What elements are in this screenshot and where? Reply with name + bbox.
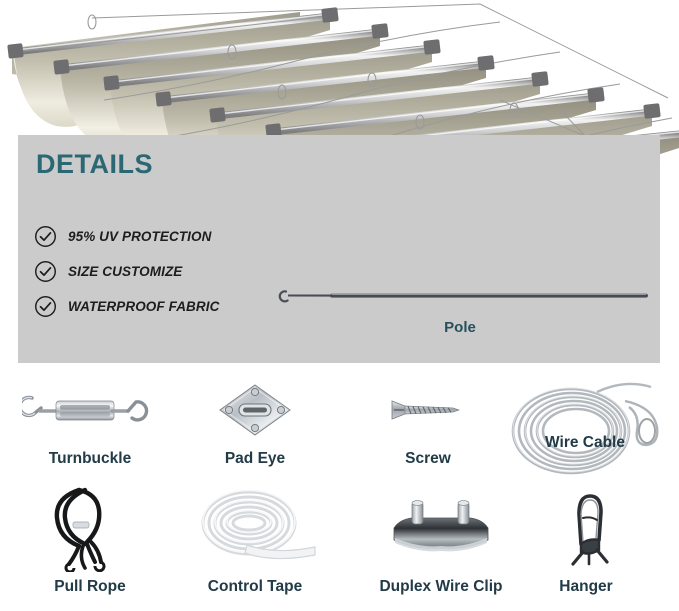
pole-figure: Pole (270, 283, 650, 339)
accessory-label: Wire Cable (500, 434, 670, 452)
feature-item-waterproof-fabric: WATERPROOF FABRIC (34, 291, 304, 321)
feature-label: 95% UV PROTECTION (68, 229, 211, 244)
pull-rope-icon (8, 484, 172, 572)
screw-icon (345, 372, 511, 448)
feature-item-size-customize: SIZE CUSTOMIZE (34, 256, 304, 286)
accessory-label: Turnbuckle (8, 450, 172, 468)
pole-icon (270, 283, 650, 309)
wire-cable-icon (500, 372, 670, 484)
accessory-item-pull-rope: Pull Rope (8, 484, 172, 611)
accessory-label: Hanger (520, 578, 652, 596)
pole-label: Pole (270, 319, 650, 336)
accessory-item-hanger: Hanger (520, 484, 652, 611)
feature-item-uv-protection: 95% UV PROTECTION (34, 221, 304, 251)
accessory-label: Duplex Wire Clip (345, 578, 537, 596)
accessory-item-control-tape: Control Tape (175, 484, 335, 611)
feature-list: 95% UV PROTECTION SIZE CUSTOMIZE (34, 221, 304, 326)
accessory-item-wire-cable: Wire Cable (500, 372, 670, 484)
duplex-wire-clip-icon (345, 484, 537, 572)
accessory-label: Screw (345, 450, 511, 468)
feature-label: SIZE CUSTOMIZE (68, 264, 182, 279)
accessory-label: Pad Eye (175, 450, 335, 468)
control-tape-icon (175, 484, 335, 572)
turnbuckle-icon (8, 372, 172, 448)
accessory-item-screw: Screw (345, 372, 511, 484)
accessory-item-duplex-wire-clip: Duplex Wire Clip (345, 484, 537, 611)
check-circle-icon (34, 225, 57, 248)
hanger-icon (520, 484, 652, 572)
accessory-item-turnbuckle: Turnbuckle (8, 372, 172, 484)
details-title: DETAILS (36, 149, 153, 180)
check-circle-icon (34, 260, 57, 283)
pad-eye-icon (175, 372, 335, 448)
feature-label: WATERPROOF FABRIC (68, 299, 219, 314)
product-infographic: DETAILS 95% UV PROTECTION (0, 0, 679, 611)
check-circle-icon (34, 295, 57, 318)
details-panel: DETAILS 95% UV PROTECTION (18, 135, 660, 363)
accessory-grid: Turnbuckle (0, 372, 679, 611)
accessory-label: Pull Rope (8, 578, 172, 596)
accessory-label: Control Tape (175, 578, 335, 596)
accessory-item-pad-eye: Pad Eye (175, 372, 335, 484)
